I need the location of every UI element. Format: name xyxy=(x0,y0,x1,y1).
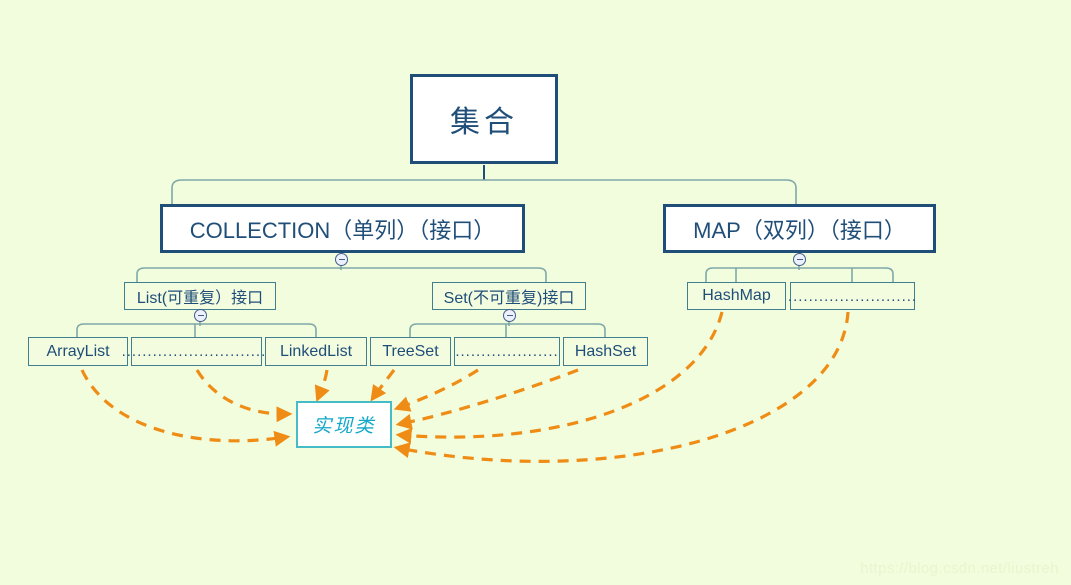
implements-arrow xyxy=(82,312,848,461)
node-implementation-class[interactable]: 实现类 xyxy=(296,401,392,448)
diagram-canvas: 集合 COLLECTION（单列）（接口） MAP（双列）（接口） List(可… xyxy=(0,0,1071,585)
arrow-hashmap-to-impl xyxy=(400,312,722,437)
node-hashset-label: HashSet xyxy=(575,343,636,361)
arrow-linkedlist-to-impl xyxy=(318,370,327,398)
collapse-toggle-set[interactable] xyxy=(503,309,516,322)
node-map-placeholder[interactable]: ......................... xyxy=(790,282,915,310)
connector-set-to-leaves xyxy=(410,324,605,338)
node-collection[interactable]: COLLECTION（单列）（接口） xyxy=(160,204,525,253)
connector-map-to-children xyxy=(706,268,893,283)
node-set-label: Set(不可重复)接口 xyxy=(444,284,575,308)
node-map-label: MAP（双列）（接口） xyxy=(693,213,906,245)
arrow-listdots-to-impl xyxy=(197,370,288,414)
node-treeset[interactable]: TreeSet xyxy=(370,337,451,366)
connector-root-to-level2 xyxy=(172,180,796,205)
node-root[interactable]: 集合 xyxy=(410,74,558,164)
node-arraylist[interactable]: ArrayList xyxy=(28,337,128,366)
collapse-toggle-list[interactable] xyxy=(194,309,207,322)
collapse-toggle-collection[interactable] xyxy=(335,253,348,266)
connector-list-to-leaves xyxy=(77,324,316,338)
connector-collection-to-children xyxy=(137,268,546,283)
node-hashmap[interactable]: HashMap xyxy=(687,282,786,310)
node-root-label: 集合 xyxy=(450,97,518,141)
node-set[interactable]: Set(不可重复)接口 xyxy=(432,282,586,310)
node-list-label: List(可重复）接口 xyxy=(137,284,263,308)
node-set-placeholder-label: .................... xyxy=(455,343,558,360)
arrow-setdots-to-impl xyxy=(398,370,478,408)
node-implementation-class-label: 实现类 xyxy=(312,411,375,438)
node-collection-label: COLLECTION（单列）（接口） xyxy=(190,213,496,245)
node-map-placeholder-label: ......................... xyxy=(788,288,917,305)
node-treeset-label: TreeSet xyxy=(382,343,438,361)
node-list[interactable]: List(可重复）接口 xyxy=(124,282,276,310)
arrow-hashset-to-impl xyxy=(400,370,578,424)
node-linkedlist-label: LinkedList xyxy=(280,343,352,361)
node-map[interactable]: MAP（双列）（接口） xyxy=(663,204,936,253)
arrow-mapdots-to-impl xyxy=(398,312,848,461)
arrow-arraylist-to-impl xyxy=(82,370,286,441)
collapse-toggle-map[interactable] xyxy=(793,253,806,266)
node-list-placeholder-label: ............................. xyxy=(122,343,272,360)
node-set-placeholder[interactable]: .................... xyxy=(454,337,560,366)
node-list-placeholder[interactable]: ............................. xyxy=(131,337,262,366)
node-hashset[interactable]: HashSet xyxy=(563,337,648,366)
arrow-treeset-to-impl xyxy=(373,370,394,398)
node-arraylist-label: ArrayList xyxy=(46,343,109,361)
node-linkedlist[interactable]: LinkedList xyxy=(265,337,367,366)
node-hashmap-label: HashMap xyxy=(702,287,770,305)
watermark: https://blog.csdn.net/liustreh xyxy=(860,560,1059,577)
